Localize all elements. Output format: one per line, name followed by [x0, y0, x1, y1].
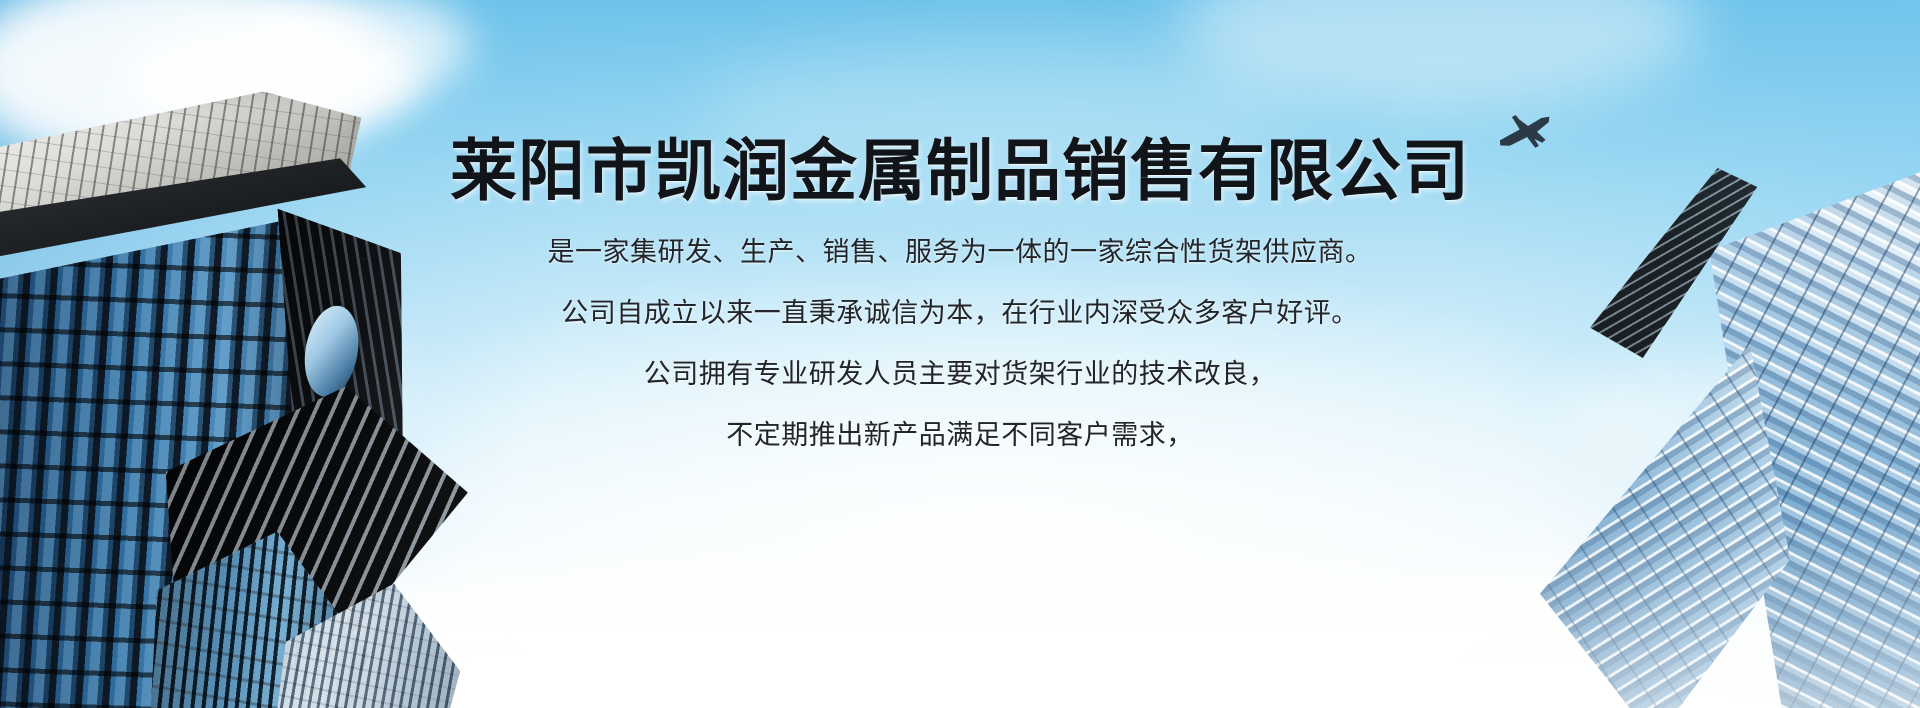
description-line: 公司拥有专业研发人员主要对货架行业的技术改良，	[644, 361, 1277, 388]
company-hero-banner: 莱阳市凯润金属制品销售有限公司 是一家集研发、生产、销售、服务为一体的一家综合性…	[0, 0, 1920, 708]
company-title: 莱阳市凯润金属制品销售有限公司	[450, 138, 1470, 205]
description-line: 是一家集研发、生产、销售、服务为一体的一家综合性货架供应商。	[548, 239, 1373, 266]
description-line: 不定期推出新产品满足不同客户需求，	[726, 422, 1194, 449]
right-building-haze	[1540, 500, 1920, 708]
company-description: 是一家集研发、生产、销售、服务为一体的一家综合性货架供应商。 公司自成立以来一直…	[548, 239, 1373, 449]
description-line: 公司自成立以来一直秉承诚信为本，在行业内深受众多客户好评。	[561, 300, 1359, 327]
left-skyscraper-image	[0, 82, 441, 708]
right-glass-tower-image	[1540, 120, 1920, 708]
